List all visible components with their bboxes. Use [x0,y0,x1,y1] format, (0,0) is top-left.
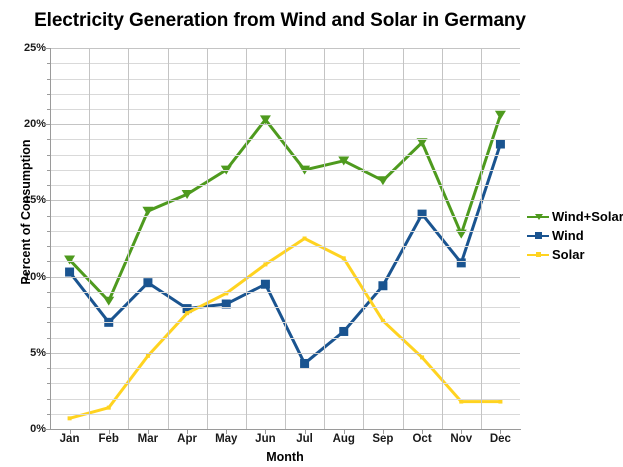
legend-item-label: Wind+Solar [552,209,623,224]
data-point-marker [418,210,427,219]
x-axis-tick-mark [500,430,501,434]
y-axis-title: Percent of Consumption [19,102,33,322]
data-point-marker [65,268,74,277]
y-axis-tick-mark [47,292,50,293]
y-axis-tick-mark [47,139,50,140]
gridline-vertical [128,48,129,429]
data-point-marker [498,400,502,404]
y-axis-tick-mark [47,109,50,110]
gridline-vertical [207,48,208,429]
gridline-vertical [403,48,404,429]
y-axis-tick-mark [45,429,50,430]
x-axis-tick-mark [422,430,423,434]
x-axis-tick-label: Nov [439,433,483,445]
y-axis-tick-mark [45,353,50,354]
y-axis-tick-mark [47,155,50,156]
x-axis-tick-label: Aug [322,433,366,445]
y-axis-tick-mark [47,383,50,384]
x-axis-tick-mark [305,430,306,434]
data-point-marker [107,406,111,410]
x-axis-tick-label: Jul [283,433,327,445]
data-point-marker [495,111,506,120]
x-axis-tick-mark [70,430,71,434]
gridline-vertical [324,48,325,429]
x-axis-tick-label: Feb [87,433,131,445]
data-point-marker [420,355,424,359]
y-axis-tick-label: 25% [4,42,46,54]
data-point-marker [185,311,189,315]
gridline-vertical [481,48,482,429]
x-axis-tick-label: Sep [361,433,405,445]
data-point-marker [300,359,309,368]
y-axis-tick-mark [47,261,50,262]
legend-item-label: Solar [552,247,585,262]
chart-legend: Wind+SolarWindSolar [527,207,623,264]
gridline-vertical [89,48,90,429]
legend-item-wind[interactable]: Wind [527,226,623,245]
y-axis-tick-mark [47,368,50,369]
data-point-marker [378,281,387,290]
legend-swatch-icon [527,211,549,223]
y-axis-line [50,48,51,430]
x-axis-tick-mark [461,430,462,434]
data-point-marker [68,416,72,420]
x-axis-tick-mark [148,430,149,434]
y-axis-tick-mark [47,338,50,339]
data-point-marker [339,327,348,336]
y-axis-tick-label: 0% [4,423,46,435]
x-axis-tick-label: Mar [126,433,170,445]
data-point-marker [342,256,346,260]
data-point-marker [263,262,267,266]
data-point-marker [459,400,463,404]
legend-item-label: Wind [552,228,584,243]
y-axis-tick-label: 5% [4,347,46,359]
data-point-marker [103,297,114,306]
line-chart: Electricity Generation from Wind and Sol… [0,0,623,467]
x-axis-tick-label: Apr [165,433,209,445]
x-axis-tick-mark [344,430,345,434]
y-axis-tick-mark [45,124,50,125]
data-point-marker [303,237,307,241]
data-point-marker [457,258,466,267]
gridline-vertical [363,48,364,429]
legend-swatch-icon [527,249,549,261]
plot-area [50,48,520,429]
x-axis-tick-mark [226,430,227,434]
data-point-marker [146,354,150,358]
x-axis-tick-mark [109,430,110,434]
chart-title: Electricity Generation from Wind and Sol… [0,10,560,32]
gridline-vertical [442,48,443,429]
y-axis-tick-mark [47,414,50,415]
x-axis-title: Month [50,450,520,464]
x-axis-tick-label: Dec [478,433,522,445]
y-axis-tick-mark [47,63,50,64]
legend-item-wind-plus-solar[interactable]: Wind+Solar [527,207,623,226]
data-point-marker [142,207,153,216]
data-point-marker [261,280,270,289]
x-axis-line [50,429,521,430]
y-axis-tick-mark [47,170,50,171]
x-axis-tick-mark [265,430,266,434]
data-point-marker [496,140,505,149]
gridline-vertical [168,48,169,429]
y-axis-tick-mark [45,48,50,49]
x-axis-tick-label: May [204,433,248,445]
data-point-marker [377,176,388,185]
y-axis-tick-mark [47,231,50,232]
y-axis-tick-mark [45,277,50,278]
y-axis-tick-mark [47,246,50,247]
y-axis-tick-mark [47,399,50,400]
x-axis-tick-label: Jan [48,433,92,445]
x-axis-tick-mark [187,430,188,434]
y-axis-tick-mark [47,94,50,95]
data-point-marker [143,278,152,287]
y-axis-tick-mark [47,216,50,217]
x-axis-tick-label: Jun [243,433,287,445]
y-axis-tick-mark [47,79,50,80]
y-axis-tick-mark [47,307,50,308]
x-axis-tick-mark [383,430,384,434]
y-axis-tick-mark [45,200,50,201]
legend-item-solar[interactable]: Solar [527,245,623,264]
x-axis-tick-label: Oct [400,433,444,445]
y-axis-tick-mark [47,185,50,186]
legend-swatch-icon [527,230,549,242]
gridline-vertical [246,48,247,429]
y-axis-tick-mark [47,322,50,323]
gridline-vertical [285,48,286,429]
